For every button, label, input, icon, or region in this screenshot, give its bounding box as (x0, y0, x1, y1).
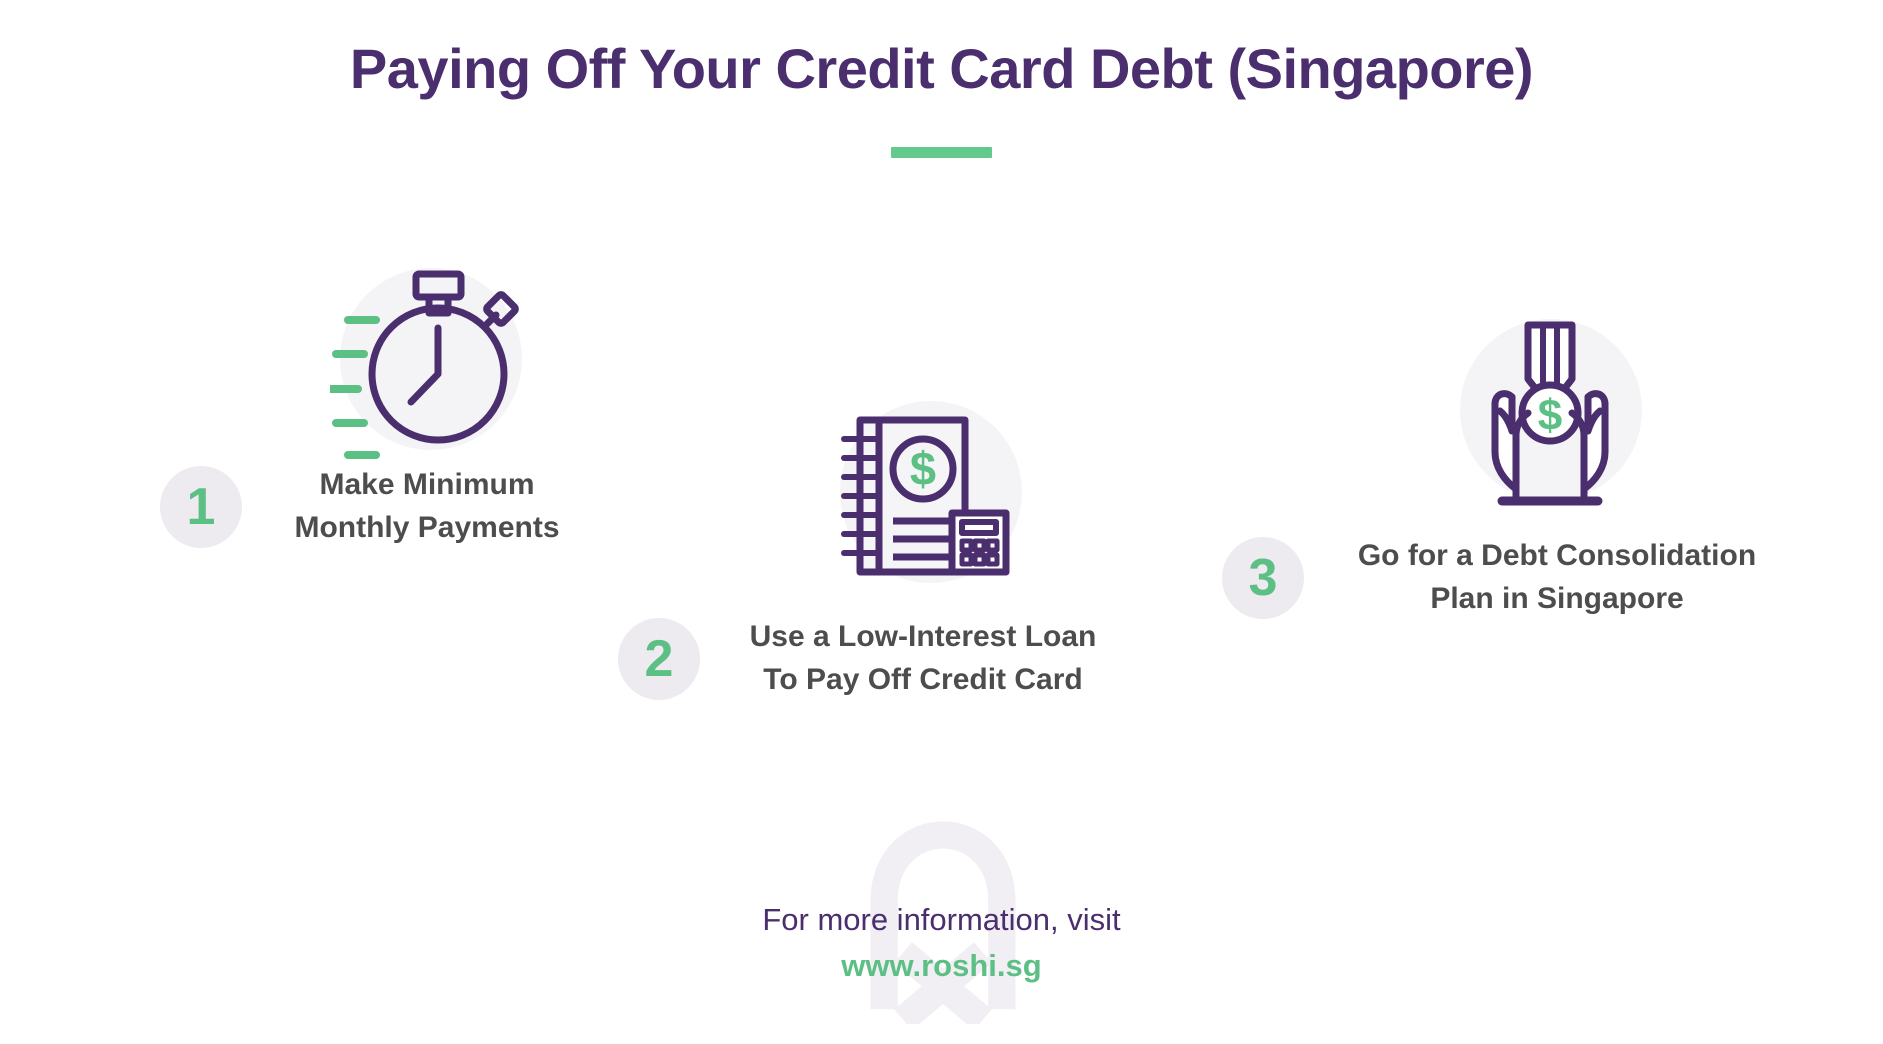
step-1-label: Make Minimum Monthly Payments (282, 464, 572, 549)
stopwatch-icon (330, 262, 530, 462)
step-3-label: Go for a Debt Consolidation Plan in Sing… (1342, 535, 1772, 620)
step-3-number-badge: 3 (1222, 537, 1304, 619)
page-title: Paying Off Your Credit Card Debt (Singap… (0, 38, 1883, 100)
infographic-canvas: Paying Off Your Credit Card Debt (Singap… (0, 0, 1883, 1044)
notebook-calculator-icon: $ (830, 395, 1030, 595)
stopwatch-icon-container (330, 262, 530, 462)
step-2-label: Use a Low-Interest Loan To Pay Off Credi… (738, 616, 1108, 701)
footer-website-link[interactable]: www.roshi.sg (0, 946, 1883, 986)
footer: For more information, visit www.roshi.sg (0, 900, 1883, 987)
notebook-calculator-icon-container: $ (830, 395, 1030, 595)
dollar-sign-icon: $ (910, 442, 936, 495)
step-2-number-badge: 2 (618, 618, 700, 700)
step-3-row: 3 Go for a Debt Consolidation Plan in Si… (1222, 535, 1772, 620)
title-accent-rule (891, 147, 992, 158)
hands-holding-medal-icon: $ (1450, 313, 1650, 513)
step-2-row: 2 Use a Low-Interest Loan To Pay Off Cre… (618, 616, 1108, 701)
step-1-row: 1 Make Minimum Monthly Payments (160, 464, 572, 549)
spiral-rings (844, 439, 879, 553)
footer-info-text: For more information, visit (0, 900, 1883, 940)
step-1-number-badge: 1 (160, 466, 242, 548)
hands-holding-medal-icon-container: $ (1450, 313, 1650, 513)
speed-lines (330, 320, 376, 455)
dollar-sign-icon: $ (1538, 391, 1562, 440)
